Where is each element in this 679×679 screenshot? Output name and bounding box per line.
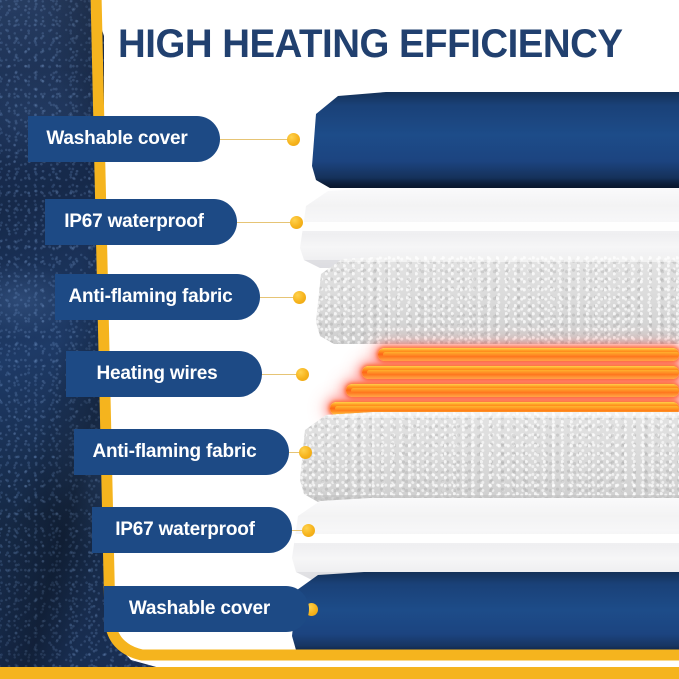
label-pill-text: IP67 waterproof [92, 519, 272, 541]
layer-fabric-bottom [300, 412, 679, 502]
label-pill-text: Heating wires [66, 363, 242, 385]
layer-heating-wires [330, 344, 679, 416]
label-pill-washable-cover-top[interactable]: Washable cover [28, 116, 220, 162]
layer-navy-bottom [292, 572, 679, 658]
label-pill-text: Anti-flaming fabric [55, 286, 240, 308]
layer-white-bottom [292, 498, 679, 580]
connector-dot [287, 133, 300, 146]
label-pill-washable-cover-bottom[interactable]: Washable cover [104, 586, 309, 632]
heating-wire [346, 384, 679, 397]
connector-line [216, 139, 294, 140]
connector-dot [293, 291, 306, 304]
infographic-canvas: HIGH HEATING EFFICIENCY Washable cover I… [0, 0, 679, 679]
label-pill-heating-wires[interactable]: Heating wires [66, 351, 262, 397]
heating-wire [362, 366, 679, 379]
label-pill-ip67-waterproof-top[interactable]: IP67 waterproof [45, 199, 237, 245]
label-pill-text: Washable cover [104, 598, 289, 620]
layer-navy-top [312, 92, 679, 188]
connector-dot [302, 524, 315, 537]
layer-fabric-top [316, 256, 679, 344]
label-pill-text: IP67 waterproof [45, 211, 217, 233]
label-pill-text: Washable cover [28, 128, 200, 150]
connector-dot [296, 368, 309, 381]
label-pill-anti-flaming-fabric-bottom[interactable]: Anti-flaming fabric [74, 429, 289, 475]
layer-stack-diagram [0, 0, 679, 679]
heating-wire [378, 348, 679, 361]
label-pill-anti-flaming-fabric-top[interactable]: Anti-flaming fabric [55, 274, 260, 320]
label-pill-text: Anti-flaming fabric [74, 441, 269, 463]
connector-dot [299, 446, 312, 459]
connector-line [233, 222, 297, 223]
connector-dot [290, 216, 303, 229]
page-title: HIGH HEATING EFFICIENCY [118, 22, 569, 66]
label-pill-ip67-waterproof-bottom[interactable]: IP67 waterproof [92, 507, 292, 553]
